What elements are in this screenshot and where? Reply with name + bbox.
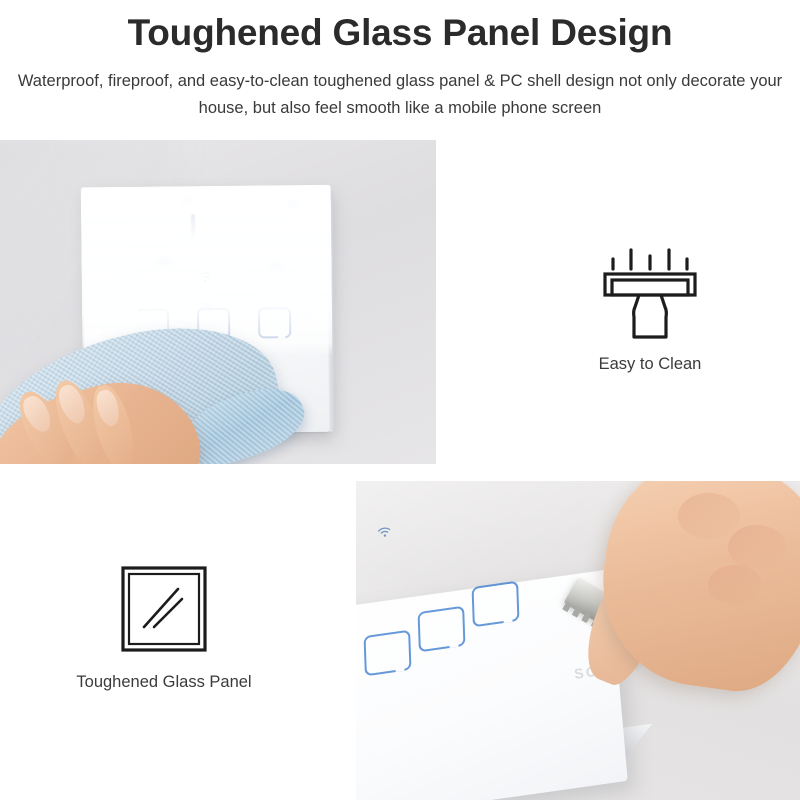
knuckle <box>708 565 762 605</box>
squeegee-icon <box>552 245 748 343</box>
feature-label: Easy to Clean <box>552 355 748 375</box>
feature-easy-to-clean: Easy to Clean <box>552 245 748 375</box>
photo-scratch-test: SONOFF <box>356 481 800 800</box>
touch-button-1[interactable] <box>364 630 412 677</box>
wifi-icon <box>377 526 391 539</box>
feature-toughened-glass-panel: Toughened Glass Panel <box>58 565 270 693</box>
touch-button-2[interactable] <box>418 606 466 653</box>
page-title: Toughened Glass Panel Design <box>0 0 800 51</box>
knuckle <box>728 525 786 569</box>
page-subtitle: Waterproof, fireproof, and easy-to-clean… <box>15 51 785 121</box>
knuckle <box>678 493 740 539</box>
feature-label: Toughened Glass Panel <box>58 673 270 693</box>
page-header: Toughened Glass Panel Design Waterproof,… <box>0 0 800 140</box>
foam-drip <box>191 214 195 238</box>
photo-cleaning-panel: SONOFF <box>0 140 436 464</box>
glass-panel-icon <box>58 565 270 653</box>
product-feature-page: Toughened Glass Panel Design Waterproof,… <box>0 0 800 800</box>
touch-button-3[interactable] <box>472 581 520 628</box>
